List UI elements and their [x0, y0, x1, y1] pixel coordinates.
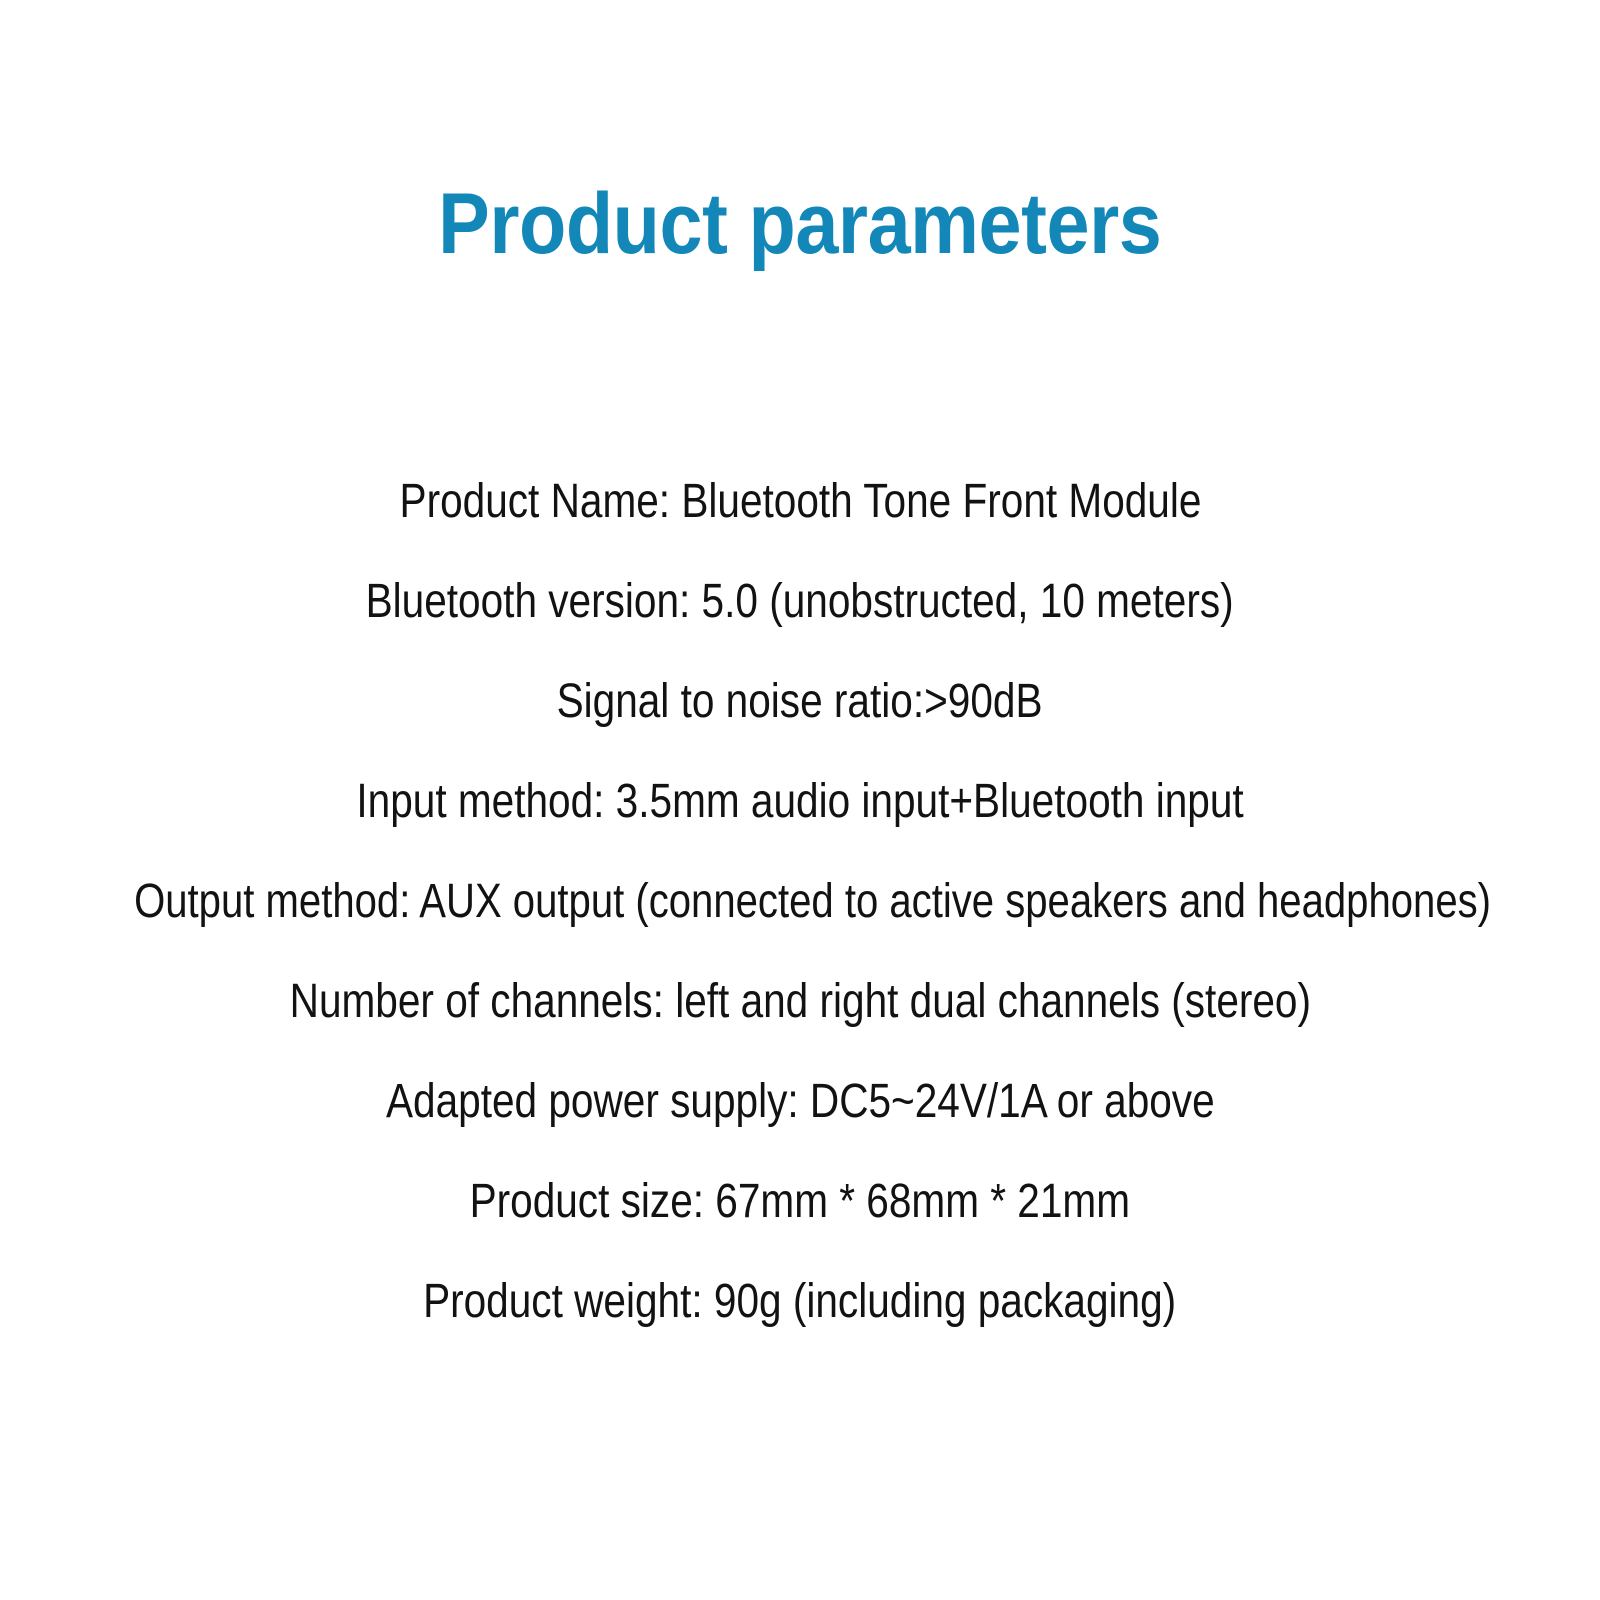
page-title-block: Product parameters — [0, 118, 1600, 329]
product-parameters-page: Product parameters Product Name: Bluetoo… — [0, 0, 1600, 1600]
spec-line-text: Input method: 3.5mm audio input+Bluetoot… — [356, 752, 1243, 852]
spec-row-product-size: Product size: 67mm * 68mm * 21mm — [0, 1152, 1600, 1252]
spec-row-product-weight: Product weight: 90g (including packaging… — [0, 1252, 1600, 1352]
spec-row-signal-to-noise-ratio: Signal to noise ratio:>90dB — [0, 652, 1600, 752]
page-title: Product parameters — [438, 176, 1161, 272]
spec-row-adapted-power-supply: Adapted power supply: DC5~24V/1A or abov… — [0, 1052, 1600, 1152]
spec-line-text: Output method: AUX output (connected to … — [134, 852, 1491, 952]
spec-line-text: Bluetooth version: 5.0 (unobstructed, 10… — [366, 552, 1234, 652]
spec-row-bluetooth-version: Bluetooth version: 5.0 (unobstructed, 10… — [0, 552, 1600, 652]
spec-line-text: Product weight: 90g (including packaging… — [423, 1252, 1176, 1352]
spec-line-text: Signal to noise ratio:>90dB — [557, 652, 1043, 752]
spec-line-text: Product size: 67mm * 68mm * 21mm — [470, 1152, 1130, 1252]
spec-row-input-method: Input method: 3.5mm audio input+Bluetoot… — [0, 752, 1600, 852]
specifications-list: Product Name: Bluetooth Tone Front Modul… — [0, 452, 1600, 1352]
spec-line-text: Number of channels: left and right dual … — [289, 952, 1310, 1052]
spec-line-text: Product Name: Bluetooth Tone Front Modul… — [399, 452, 1201, 552]
spec-row-output-method: Output method: AUX output (connected to … — [0, 852, 1600, 952]
spec-row-product-name: Product Name: Bluetooth Tone Front Modul… — [0, 452, 1600, 552]
spec-line-text: Adapted power supply: DC5~24V/1A or abov… — [386, 1052, 1215, 1152]
spec-row-number-of-channels: Number of channels: left and right dual … — [0, 952, 1600, 1052]
